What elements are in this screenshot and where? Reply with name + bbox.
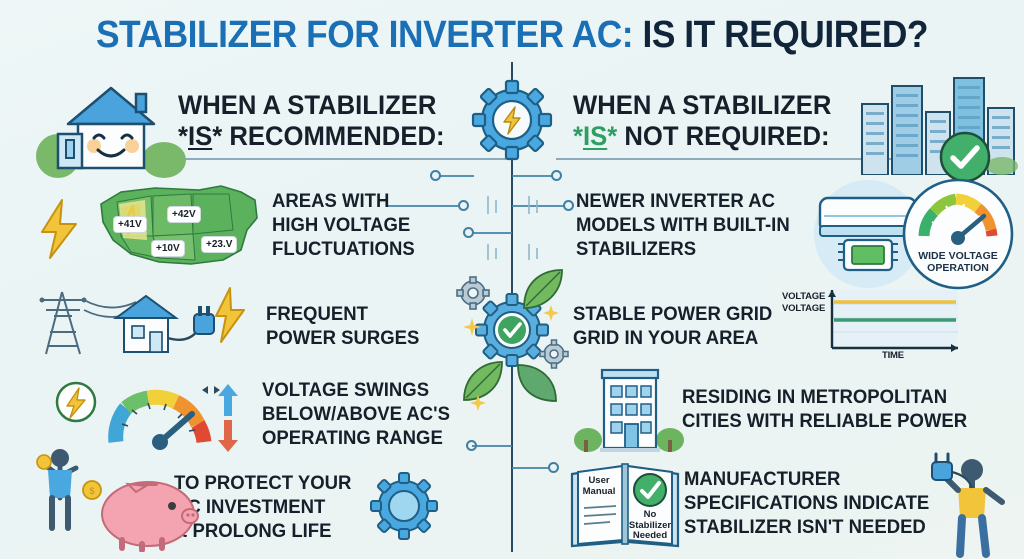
chart-ylabel-line1: VOLTAGE bbox=[782, 291, 825, 302]
gear-coin-icon bbox=[368, 470, 440, 542]
apartment-building-icon bbox=[574, 366, 684, 452]
left-item-1-label: AREAS WITH HIGH VOLTAGE FLUCTUATIONS bbox=[272, 190, 415, 261]
wide-voltage-gauge-label: WIDE VOLTAGE OPERATION bbox=[898, 250, 1018, 274]
sparkle-icon bbox=[463, 318, 481, 336]
circuit-tick bbox=[495, 200, 497, 213]
left-column-heading: WHEN A STABILIZER *IS* RECOMMENDED: bbox=[178, 90, 445, 152]
circuit-tick bbox=[495, 248, 497, 259]
circuit-trace bbox=[512, 175, 554, 177]
smiling-house-icon bbox=[36, 72, 186, 180]
circuit-node bbox=[463, 227, 474, 238]
circuit-tick bbox=[528, 196, 530, 214]
right-heading-emphasis: IS bbox=[583, 121, 607, 151]
manual-note-line3: Needed bbox=[624, 531, 676, 542]
circuit-node bbox=[430, 170, 441, 181]
circuit-trace bbox=[512, 205, 570, 207]
left-heading-emphasis: IS bbox=[188, 121, 212, 151]
map-badge: +23.V bbox=[201, 236, 237, 253]
sparkle-icon bbox=[543, 305, 559, 321]
green-check-badge-icon bbox=[938, 130, 992, 184]
gear-lightning-icon bbox=[470, 78, 554, 162]
right-heading-rest: NOT REQUIRED: bbox=[617, 121, 829, 151]
right-item-2-label: STABLE POWER GRID GRID IN YOUR AREA bbox=[573, 303, 772, 351]
circuit-node bbox=[551, 170, 562, 181]
circuit-node bbox=[458, 200, 469, 211]
map-badge: +42V bbox=[167, 206, 201, 223]
usa-map-icon: +41V +42V +10V +23.V bbox=[95, 178, 263, 274]
right-item-4-label: MANUFACTURER SPECIFICATIONS INDICATE STA… bbox=[684, 468, 929, 539]
circuit-tick bbox=[487, 244, 489, 260]
infographic-canvas: STABILIZER FOR INVERTER AC: IS IT REQUIR… bbox=[0, 0, 1024, 559]
right-heading-line1: WHEN A STABILIZER bbox=[573, 90, 831, 121]
circuit-trace bbox=[436, 175, 474, 177]
left-heading-line2: *IS* RECOMMENDED: bbox=[178, 121, 445, 152]
map-badge: +10V bbox=[151, 240, 185, 257]
circuit-trace bbox=[470, 232, 512, 234]
circuit-node bbox=[563, 200, 574, 211]
circuit-trace bbox=[512, 467, 550, 469]
chart-ylabel-line2: VOLTAGE bbox=[782, 303, 825, 314]
svg-text:$: $ bbox=[89, 486, 94, 496]
right-column-heading: WHEN A STABILIZER *IS* NOT REQUIRED: bbox=[573, 90, 831, 152]
left-heading-divider bbox=[152, 158, 506, 160]
small-gear-icon bbox=[538, 338, 570, 370]
right-item-1-label: NEWER INVERTER AC MODELS WITH BUILT-IN S… bbox=[576, 190, 790, 261]
right-heading-asterisk-post: * bbox=[607, 121, 617, 151]
title-part-blue: STABILIZER FOR INVERTER AC: bbox=[96, 14, 633, 56]
piggy-bank-savings-icon: $ bbox=[30, 436, 210, 552]
voltage-time-chart: VOLTAGE VOLTAGE TIME bbox=[786, 286, 968, 364]
person-with-plug-icon bbox=[928, 450, 1018, 558]
right-heading-asterisk-pre: * bbox=[573, 121, 583, 151]
right-heading-line2: *IS* NOT REQUIRED: bbox=[573, 121, 831, 152]
circuit-tick bbox=[536, 200, 538, 213]
user-manual-book-icon: User Manual No Stabilizer Needed bbox=[566, 458, 684, 550]
right-heading-divider bbox=[556, 158, 901, 160]
small-gear-icon bbox=[455, 275, 491, 311]
manual-title-line2: Manual bbox=[573, 487, 625, 498]
circuit-tick bbox=[528, 244, 530, 260]
left-item-2-label: FREQUENT POWER SURGES bbox=[266, 303, 419, 351]
manual-right-page-text: No Stabilizer Needed bbox=[624, 510, 676, 542]
page-title: STABILIZER FOR INVERTER AC: IS IT REQUIR… bbox=[36, 14, 988, 57]
manual-left-page-text: User Manual bbox=[573, 476, 625, 497]
map-badge: +41V bbox=[113, 216, 147, 233]
wide-voltage-label-line2: OPERATION bbox=[898, 262, 1018, 274]
ac-unit-wide-voltage-icon: WIDE VOLTAGE OPERATION bbox=[806, 178, 1018, 290]
power-line-house-surge-icon bbox=[32, 280, 248, 360]
lightning-bolt-icon bbox=[36, 198, 82, 260]
left-item-3-label: VOLTAGE SWINGS BELOW/ABOVE AC'S OPERATIN… bbox=[262, 379, 450, 450]
circuit-tick bbox=[487, 196, 489, 214]
left-heading-line1: WHEN A STABILIZER bbox=[178, 90, 445, 121]
circuit-tick bbox=[536, 248, 538, 259]
circuit-trace bbox=[472, 445, 512, 447]
right-item-3-label: RESIDING IN METROPOLITAN CITIES WITH REL… bbox=[682, 386, 967, 434]
sparkle-icon bbox=[470, 395, 486, 411]
chart-xlabel: TIME bbox=[882, 350, 904, 361]
wide-voltage-label-line1: WIDE VOLTAGE bbox=[898, 250, 1018, 262]
left-heading-rest: * RECOMMENDED: bbox=[212, 121, 444, 151]
title-part-dark: IS IT REQUIRED? bbox=[642, 14, 928, 56]
